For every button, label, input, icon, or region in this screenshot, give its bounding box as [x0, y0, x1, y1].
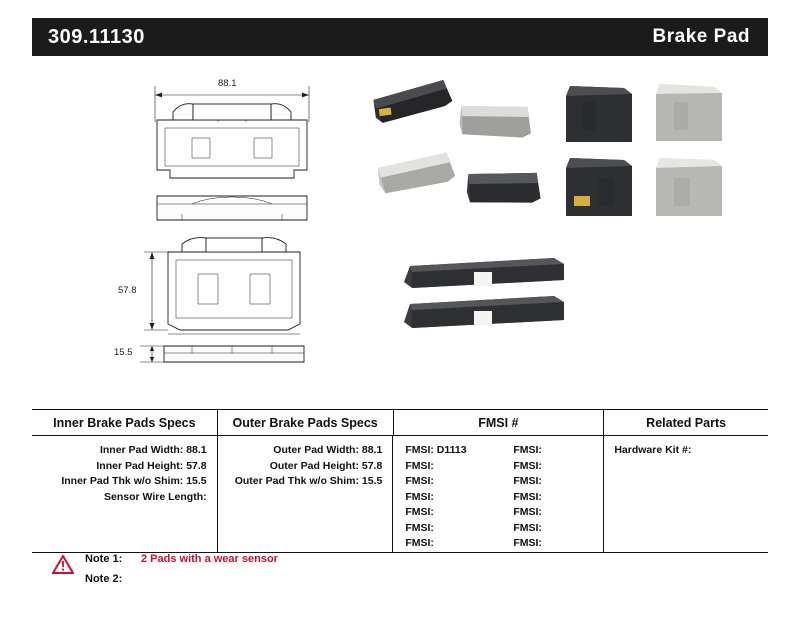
fmsi-right: FMSI:	[513, 505, 603, 521]
fmsi-row: FMSI: FMSI:	[393, 459, 603, 475]
fmsi-row: FMSI: FMSI:	[393, 536, 603, 552]
fmsi-left: FMSI:	[393, 474, 513, 490]
outer-pad-width: Outer Pad Width: 88.1	[218, 443, 393, 459]
document-type-label: Brake Pad	[653, 26, 750, 48]
outer-pad-thickness: Outer Pad Thk w/o Shim: 15.5	[218, 474, 393, 490]
fmsi-left: FMSI:	[393, 536, 513, 552]
notes-section: Note 1: 2 Pads with a wear sensor Note 2…	[52, 553, 472, 593]
inner-pad-width: Inner Pad Width: 88.1	[32, 443, 217, 459]
fmsi-row: FMSI: FMSI:	[393, 521, 603, 537]
dimension-thickness-label: 15.5	[114, 347, 133, 358]
inner-pad-height: Inner Pad Height: 57.8	[32, 459, 217, 475]
outer-pad-height: Outer Pad Height: 57.8	[218, 459, 393, 475]
hardware-kit-number: Hardware Kit #:	[604, 443, 768, 459]
specifications-table-body: Inner Pad Width: 88.1 Inner Pad Height: …	[32, 436, 768, 552]
photo-pads-middle	[372, 79, 543, 208]
sensor-wire-length: Sensor Wire Length:	[32, 490, 217, 506]
specifications-table: Inner Brake Pads Specs Outer Brake Pads …	[32, 409, 768, 553]
fmsi-right: FMSI:	[513, 474, 603, 490]
technical-drawing-svg	[32, 62, 768, 392]
note-2-label: Note 2:	[85, 573, 141, 585]
line-art-thickness-view	[140, 346, 304, 362]
specifications-table-header-row: Inner Brake Pads Specs Outer Brake Pads …	[32, 410, 768, 436]
note-1-label: Note 1:	[85, 553, 141, 565]
technical-drawing-area: 88.1 57.8 15.5	[32, 62, 768, 392]
fmsi-right: FMSI:	[513, 536, 603, 552]
column-header-fmsi: FMSI #	[394, 410, 605, 435]
inner-pad-thickness: Inner Pad Thk w/o Shim: 15.5	[32, 474, 217, 490]
part-number: 309.11130	[48, 26, 145, 49]
fmsi-left: FMSI:	[393, 459, 513, 475]
fmsi-row: FMSI: FMSI:	[393, 474, 603, 490]
fmsi-right: FMSI:	[513, 459, 603, 475]
fmsi-left: FMSI:	[393, 521, 513, 537]
dimension-width-label: 88.1	[218, 78, 237, 89]
line-art-side-view-top	[157, 196, 307, 220]
fmsi-row: FMSI: D1113 FMSI:	[393, 443, 603, 459]
inner-specs-cell: Inner Pad Width: 88.1 Inner Pad Height: …	[32, 436, 218, 552]
warning-icon	[52, 555, 74, 574]
line-art-front-view	[144, 238, 300, 334]
column-header-related-parts: Related Parts	[604, 410, 768, 435]
note-2-row: Note 2:	[85, 573, 472, 593]
column-header-outer-specs: Outer Brake Pads Specs	[218, 410, 394, 435]
document-page: 309.11130 Brake Pad	[0, 0, 800, 619]
fmsi-right: FMSI:	[513, 490, 603, 506]
fmsi-right: FMSI:	[513, 521, 603, 537]
fmsi-left: FMSI: D1113	[393, 443, 513, 459]
photo-pads-right	[566, 84, 722, 216]
photo-pads-stacked	[404, 258, 564, 328]
outer-specs-cell: Outer Pad Width: 88.1 Outer Pad Height: …	[218, 436, 394, 552]
note-1-row: Note 1: 2 Pads with a wear sensor	[85, 553, 472, 573]
line-art-top-view	[155, 86, 309, 178]
fmsi-left: FMSI:	[393, 490, 513, 506]
document-header: 309.11130 Brake Pad	[32, 18, 768, 56]
fmsi-cell: FMSI: D1113 FMSI: FMSI: FMSI: FMSI: FMSI…	[393, 436, 604, 552]
fmsi-row: FMSI: FMSI:	[393, 505, 603, 521]
related-parts-cell: Hardware Kit #:	[604, 436, 768, 552]
fmsi-left: FMSI:	[393, 505, 513, 521]
fmsi-right: FMSI:	[513, 443, 603, 459]
dimension-height-label: 57.8	[118, 285, 137, 296]
column-header-inner-specs: Inner Brake Pads Specs	[32, 410, 218, 435]
note-1-value: 2 Pads with a wear sensor	[141, 553, 278, 565]
fmsi-row: FMSI: FMSI:	[393, 490, 603, 506]
